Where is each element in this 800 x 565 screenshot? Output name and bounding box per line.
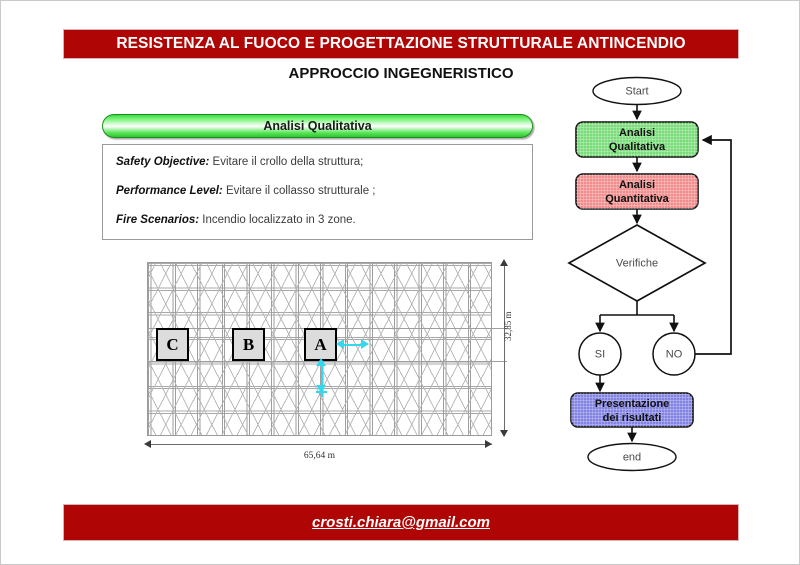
flow-node-no: NO <box>653 333 695 375</box>
flow-node-qualitativa-line1: Analisi <box>619 127 655 139</box>
safety-objective-text: Evitare il crollo della struttura; <box>209 156 363 168</box>
horizontal-dimension-label: 65,64 m <box>147 451 492 461</box>
flow-arrow-no-feedback-loop <box>695 140 731 354</box>
cyan-arrow-left-icon <box>336 339 344 349</box>
horizontal-dimension-arrow-right-icon <box>485 440 492 448</box>
list-item: Fire Scenarios: Incendio localizzato in … <box>116 214 532 226</box>
fire-scenarios-text: Incendio localizzato in 3 zone. <box>199 214 356 226</box>
fire-scenarios-label: Fire Scenarios: <box>116 214 199 226</box>
list-item: Safety Objective: Evitare il crollo dell… <box>116 156 532 168</box>
qualitative-analysis-banner-label: Analisi Qualitativa <box>263 119 371 133</box>
guide-line-bottom <box>147 361 507 362</box>
safety-objective-label: Safety Objective: <box>116 156 209 168</box>
flow-node-end-label: end <box>623 451 641 463</box>
flow-node-analisi-qualitativa: Analisi Qualitativa <box>576 122 698 157</box>
flow-node-si-label: SI <box>595 348 605 360</box>
page-title: RESISTENZA AL FUOCO E PROGETTAZIONE STRU… <box>116 35 685 53</box>
slide-canvas: RESISTENZA AL FUOCO E PROGETTAZIONE STRU… <box>0 0 800 565</box>
cyan-arrow-right-icon <box>361 339 369 349</box>
performance-level-text: Evitare il collasso strutturale ; <box>223 185 376 197</box>
flow-node-end: end <box>588 444 676 471</box>
fire-zone-a: A <box>304 328 337 361</box>
fire-zone-b: B <box>232 328 265 361</box>
vertical-dimension-arrow-bottom-icon <box>500 430 508 437</box>
flow-node-no-label: NO <box>666 348 683 360</box>
horizontal-dimension-line <box>147 444 492 445</box>
performance-level-label: Performance Level: <box>116 185 223 197</box>
flow-node-quantitativa-line1: Analisi <box>619 179 655 191</box>
list-item: Performance Level: Evitare il collasso s… <box>116 185 532 197</box>
flow-node-quantitativa-line2: Quantitativa <box>605 193 669 205</box>
flow-node-analisi-quantitativa: Analisi Quantitativa <box>576 174 698 209</box>
flow-node-start: Start <box>593 78 681 105</box>
horizontal-dimension-arrow-left-icon <box>144 440 151 448</box>
flow-node-qualitativa-line2: Qualitativa <box>609 141 666 153</box>
footer-banner: crosti.chiara@gmail.com <box>63 504 739 541</box>
qualitative-analysis-box: Safety Objective: Evitare il crollo dell… <box>102 144 533 240</box>
contact-email-link[interactable]: crosti.chiara@gmail.com <box>312 514 490 531</box>
cyan-cross-mark-vertical <box>321 386 323 397</box>
structure-plan-diagram: C B A <box>147 262 492 436</box>
header-banner: RESISTENZA AL FUOCO E PROGETTAZIONE STRU… <box>63 29 739 59</box>
flow-node-presentazione-line1: Presentazione <box>595 398 670 410</box>
flow-node-start-label: Start <box>625 85 648 97</box>
fire-zone-c: C <box>156 328 189 361</box>
flow-node-si: SI <box>579 333 621 375</box>
cyan-arrow-up-icon <box>316 358 326 366</box>
methodology-flowchart: Start Analisi Qualitativa Analisi Quanti… <box>553 73 745 473</box>
flow-node-verifiche-label: Verifiche <box>616 257 658 269</box>
qualitative-analysis-banner: Analisi Qualitativa <box>102 114 533 138</box>
vertical-dimension-label: 32,85 m <box>503 261 513 341</box>
flow-node-verifiche: Verifiche <box>569 225 705 301</box>
flow-node-presentazione-line2: dei risultati <box>603 412 662 424</box>
flow-node-presentazione: Presentazione dei risultati <box>571 393 693 427</box>
